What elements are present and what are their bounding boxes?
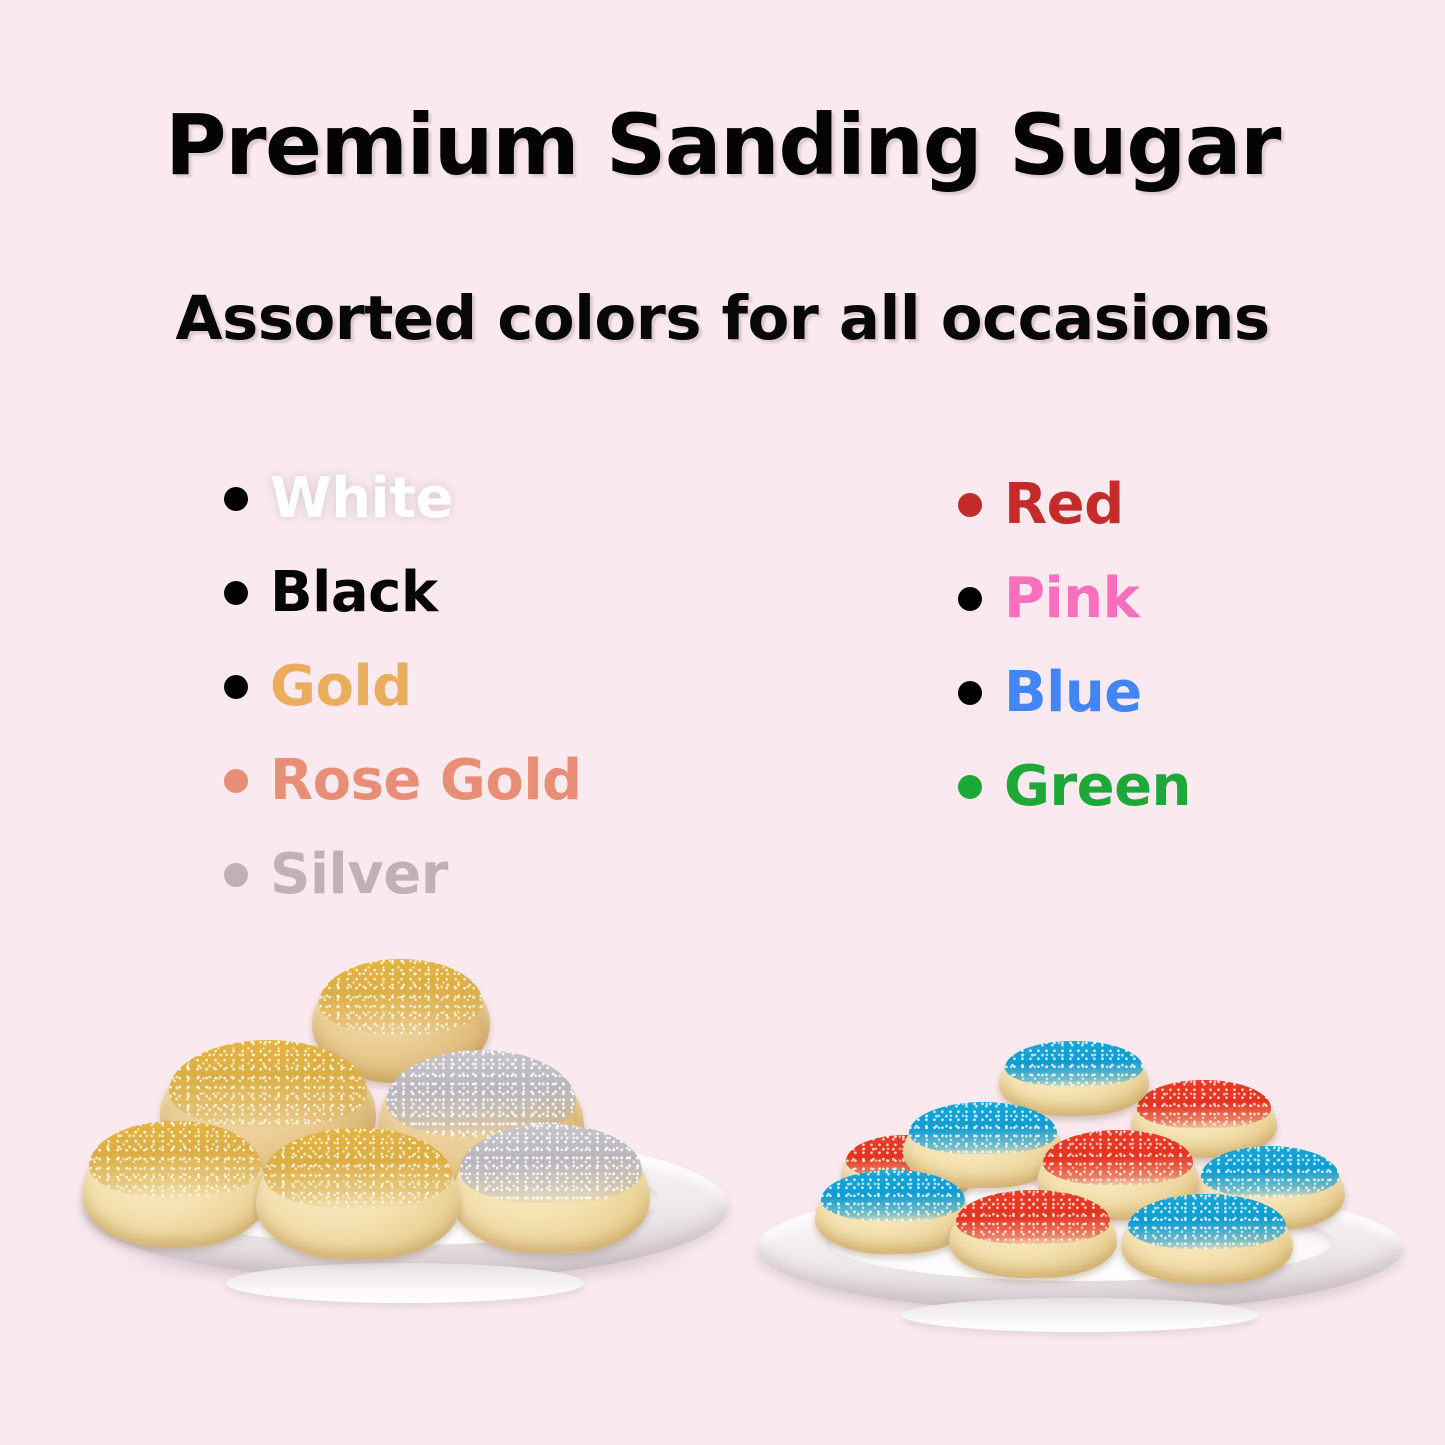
color-list-right: Red Pink Blue Green bbox=[958, 458, 1191, 834]
bullet-icon bbox=[958, 493, 982, 517]
cookie bbox=[452, 1127, 650, 1253]
sanding-sugar-blue bbox=[1128, 1194, 1286, 1249]
color-list-left: White Black Gold Rose Gold Silver bbox=[224, 452, 582, 922]
bullet-icon bbox=[958, 681, 982, 705]
sanding-sugar-red bbox=[956, 1190, 1111, 1243]
color-label-red: Red bbox=[1004, 477, 1124, 533]
sanding-sugar-blue bbox=[1201, 1146, 1339, 1197]
color-label-white: White bbox=[270, 471, 453, 527]
color-label-green: Green bbox=[1004, 759, 1191, 815]
bullet-icon bbox=[958, 775, 982, 799]
bullet-icon bbox=[224, 769, 248, 793]
sanding-sugar-red bbox=[1043, 1130, 1192, 1185]
list-item: Rose Gold bbox=[224, 734, 582, 828]
cookie bbox=[1121, 1196, 1293, 1284]
bullet-icon bbox=[224, 581, 248, 605]
plate-foot bbox=[901, 1298, 1260, 1332]
cookie bbox=[949, 1192, 1117, 1278]
sanding-sugar-blue bbox=[1005, 1041, 1143, 1087]
color-label-blue: Blue bbox=[1004, 665, 1142, 721]
list-item: Red bbox=[958, 458, 1191, 552]
color-label-pink: Pink bbox=[1004, 571, 1139, 627]
page-title: Premium Sanding Sugar bbox=[0, 96, 1445, 194]
product-photo-red-blue-cookies bbox=[735, 1040, 1425, 1340]
sanding-sugar-silver bbox=[460, 1124, 642, 1202]
color-label-black: Black bbox=[270, 565, 438, 621]
color-label-rose-gold: Rose Gold bbox=[270, 753, 582, 809]
list-item: Silver bbox=[224, 828, 582, 922]
sanding-sugar-blue bbox=[821, 1170, 965, 1221]
plate-foot bbox=[226, 1263, 585, 1303]
list-item: Blue bbox=[958, 646, 1191, 740]
sanding-sugar-blue bbox=[909, 1102, 1056, 1154]
sanding-sugar-gold bbox=[319, 959, 483, 1035]
color-label-gold: Gold bbox=[270, 659, 412, 715]
cookie bbox=[815, 1172, 971, 1254]
sanding-sugar-red bbox=[1137, 1080, 1271, 1127]
list-item: Green bbox=[958, 740, 1191, 834]
cookie bbox=[82, 1123, 268, 1247]
product-photo-gold-silver-cookies bbox=[60, 955, 750, 1315]
page-subtitle: Assorted colors for all occasions bbox=[0, 283, 1445, 354]
bullet-icon bbox=[224, 487, 248, 511]
list-item: Pink bbox=[958, 552, 1191, 646]
bullet-icon bbox=[224, 675, 248, 699]
list-item: Black bbox=[224, 546, 582, 640]
list-item: White bbox=[224, 452, 582, 546]
color-label-silver: Silver bbox=[270, 847, 448, 903]
cookie bbox=[256, 1131, 460, 1259]
list-item: Gold bbox=[224, 640, 582, 734]
cookie bbox=[999, 1042, 1149, 1116]
bullet-icon bbox=[224, 863, 248, 887]
bullet-icon bbox=[958, 587, 982, 611]
poster-canvas: Premium Sanding Sugar Assorted colors fo… bbox=[0, 0, 1445, 1445]
